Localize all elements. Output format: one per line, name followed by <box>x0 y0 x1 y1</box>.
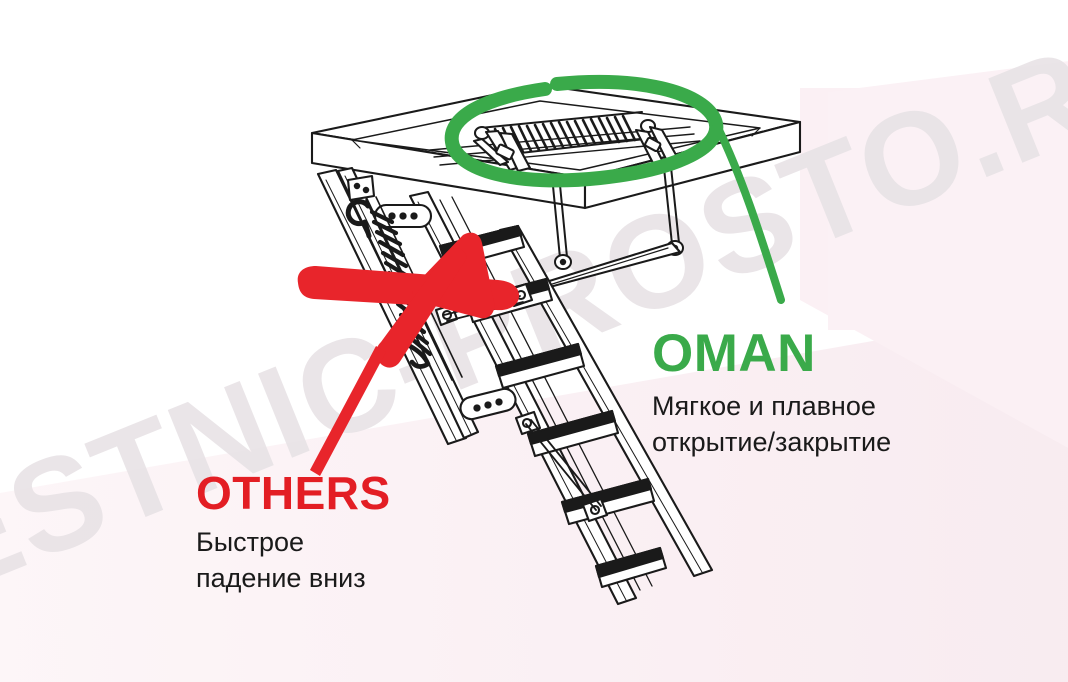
oman-description: Мягкое и плавное открытие/закрытие <box>652 388 891 461</box>
others-description: Быстрое падение вниз <box>196 524 391 597</box>
illustration-canvas: LESTNIC-PROSTO.RU <box>0 0 1068 682</box>
red-tail-line-icon <box>310 346 386 476</box>
callout-oman: OMAN Мягкое и плавное открытие/закрытие <box>652 327 891 461</box>
red-annotation-layer <box>0 0 1068 682</box>
others-title: OTHERS <box>196 470 391 516</box>
oman-title: OMAN <box>652 327 891 380</box>
callout-others: OTHERS Быстрое падение вниз <box>196 470 391 597</box>
